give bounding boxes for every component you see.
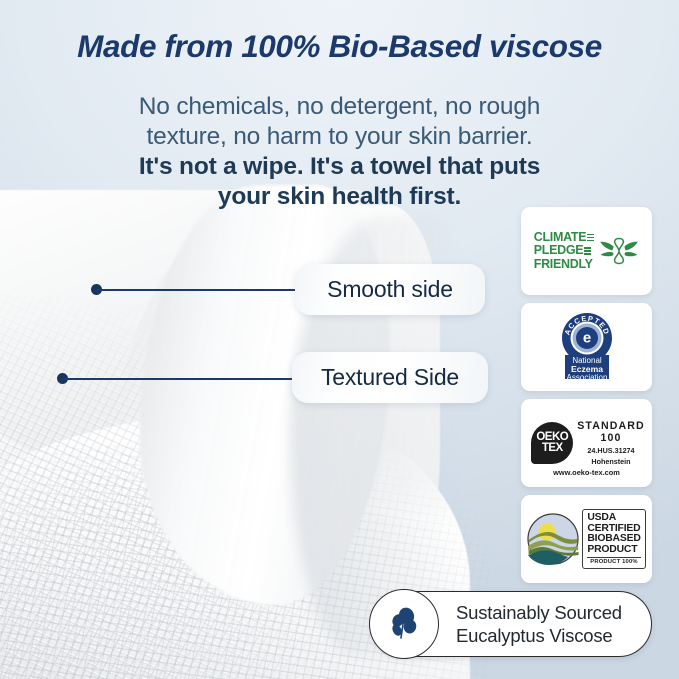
oeko-tex-logo: OEKO TEX STANDARD 100 24.HUS.31274 Hohen… xyxy=(528,420,644,466)
callout-smooth-side[interactable]: Smooth side xyxy=(295,264,485,315)
cpf-line-1: CLIMATE xyxy=(534,231,587,245)
cert-card-national-eczema-association[interactable]: e ACCEPTED National Eczema Association xyxy=(521,303,652,391)
cert-card-oeko-tex[interactable]: OEKO TEX STANDARD 100 24.HUS.31274 Hohen… xyxy=(521,399,652,487)
oeko-certificate-number: 24.HUS.31274 xyxy=(577,446,644,455)
nea-shield-icon: e ACCEPTED National Eczema Association xyxy=(556,312,618,382)
cert-card-usda-biobased[interactable]: USDA CERTIFIED BIOBASED PRODUCT PRODUCT … xyxy=(521,495,652,583)
oeko-tex-url[interactable]: www.oeko-tex.com xyxy=(521,468,652,477)
cpf-bars-icon-2 xyxy=(584,247,591,255)
eucalyptus-icon-circle xyxy=(369,589,439,659)
winged-hourglass-icon xyxy=(599,232,639,270)
sustainably-sourced-badge[interactable]: Sustainably Sourced Eucalyptus Viscose xyxy=(371,591,652,657)
climate-pledge-friendly-logo: CLIMATE PLEDGE FRIENDLY xyxy=(534,231,640,272)
callout-textured-side[interactable]: Textured Side xyxy=(292,352,488,403)
sustainably-sourced-text: Sustainably Sourced Eucalyptus Viscose xyxy=(456,601,622,647)
sustainably-sourced-line-1: Sustainably Sourced xyxy=(456,601,622,624)
usda-line-4: PRODUCT xyxy=(587,545,640,556)
subheading-line-2: texture, no harm to your skin barrier. xyxy=(0,122,679,152)
subheading-line-1: No chemicals, no detergent, no rough xyxy=(0,92,679,122)
leader-line-smooth xyxy=(96,289,296,291)
oeko-standard-label: STANDARD xyxy=(577,420,644,432)
oeko-standard-number: 100 xyxy=(577,432,644,444)
oeko-tex-details: STANDARD 100 24.HUS.31274 Hohenstein xyxy=(577,420,644,466)
usda-text-box: USDA CERTIFIED BIOBASED PRODUCT PRODUCT … xyxy=(582,509,645,569)
leader-line-textured xyxy=(62,378,293,380)
oeko-tex-mark-icon: OEKO TEX xyxy=(531,422,573,464)
cert-card-climate-pledge-friendly[interactable]: CLIMATE PLEDGE FRIENDLY xyxy=(521,207,652,295)
cpf-bars-icon xyxy=(587,234,594,242)
usda-footnote: PRODUCT 100% xyxy=(587,557,640,565)
nea-line-3: Association xyxy=(566,373,607,382)
climate-pledge-friendly-wordmark: CLIMATE PLEDGE FRIENDLY xyxy=(534,231,595,272)
page-title: Made from 100% Bio-Based viscose xyxy=(0,28,679,65)
oeko-mark-line-2: TEX xyxy=(542,443,563,455)
infographic-canvas: Made from 100% Bio-Based viscose No chem… xyxy=(0,0,679,679)
callout-smooth-side-label: Smooth side xyxy=(327,276,453,303)
usda-biobased-logo: USDA CERTIFIED BIOBASED PRODUCT PRODUCT … xyxy=(527,509,645,569)
cpf-line-2: PLEDGE xyxy=(534,244,584,258)
oeko-institute: Hohenstein xyxy=(577,457,644,466)
cpf-line-3: FRIENDLY xyxy=(534,258,593,272)
sustainably-sourced-line-2: Eucalyptus Viscose xyxy=(456,624,622,647)
usda-biobased-emblem-icon xyxy=(527,513,579,565)
subheading: No chemicals, no detergent, no rough tex… xyxy=(0,92,679,212)
callout-textured-side-label: Textured Side xyxy=(321,364,459,391)
subheading-line-3: It's not a wipe. It's a towel that puts xyxy=(0,152,679,182)
eucalyptus-leaf-icon xyxy=(384,604,424,644)
svg-text:e: e xyxy=(582,330,590,347)
